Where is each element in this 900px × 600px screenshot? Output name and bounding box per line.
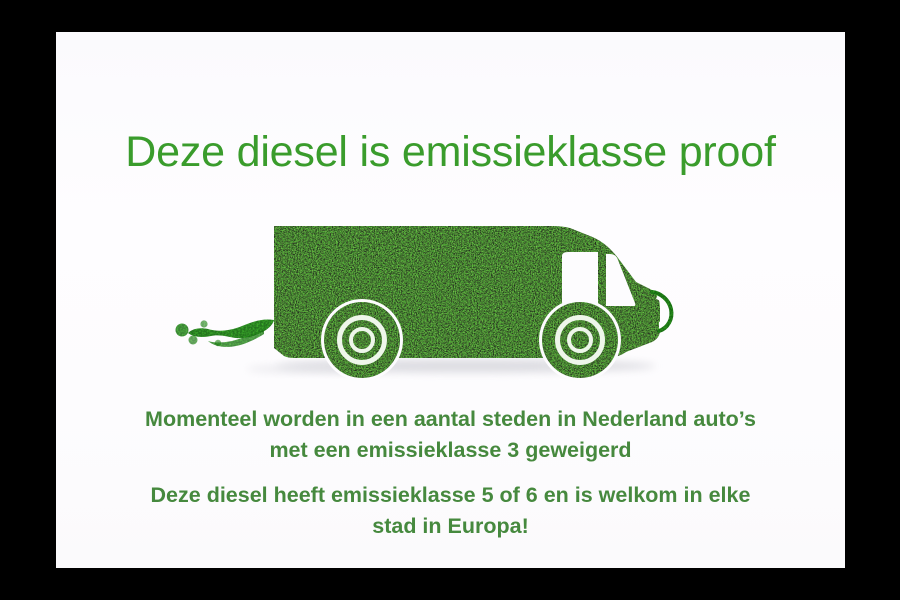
van-illustration (166, 180, 726, 420)
copy-primary-line-1: Momenteel worden in een aantal steden in… (56, 404, 845, 435)
rear-wheel (321, 299, 403, 381)
front-wheel (539, 299, 621, 381)
copy-secondary-line-1: Deze diesel heeft emissieklasse 5 of 6 e… (56, 480, 845, 511)
cab-window (562, 252, 598, 306)
copy-primary-line-2: met een emissieklasse 3 geweigerd (56, 435, 845, 466)
copy-primary: Momenteel worden in een aantal steden in… (56, 404, 845, 466)
copy-secondary-line-2: stad in Europa! (56, 511, 845, 542)
poster-frame: Deze diesel is emissieklasse proof (0, 0, 900, 600)
page-title: Deze diesel is emissieklasse proof (56, 128, 845, 177)
exhaust-plume (176, 319, 275, 346)
copy-secondary: Deze diesel heeft emissieklasse 5 of 6 e… (56, 480, 845, 542)
poster-card: Deze diesel is emissieklasse proof (56, 32, 845, 568)
